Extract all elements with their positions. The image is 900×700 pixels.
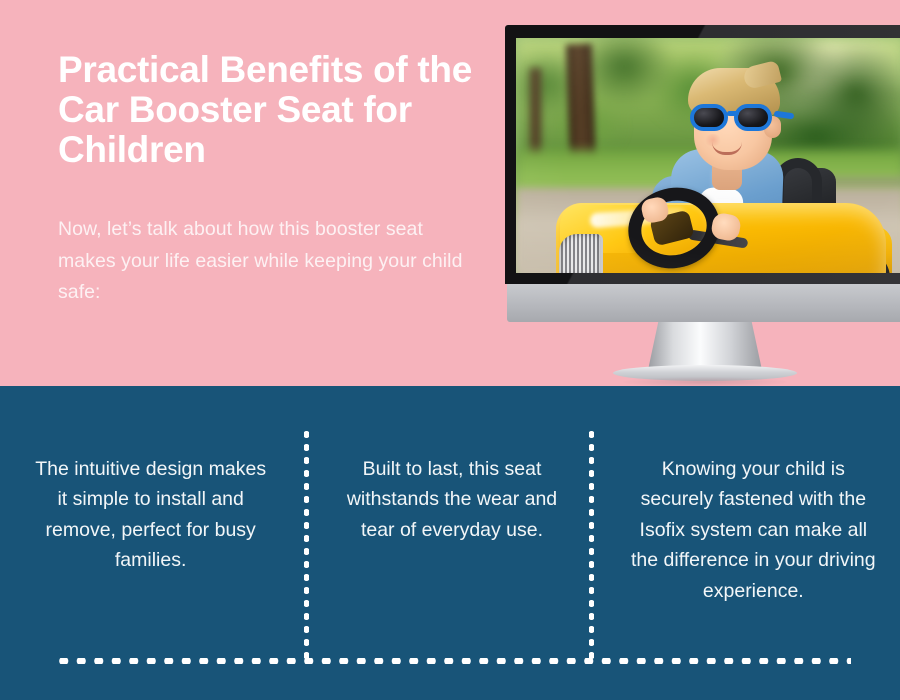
horizontal-dotted-divider bbox=[55, 658, 851, 664]
page-title: Practical Benefits of the Car Booster Se… bbox=[58, 50, 478, 170]
top-hero-section: Practical Benefits of the Car Booster Se… bbox=[0, 0, 900, 386]
sunglasses-left-lens bbox=[690, 104, 728, 131]
page-subtitle: Now, let’s talk about how this booster s… bbox=[58, 214, 470, 309]
vertical-dotted-divider-2 bbox=[589, 428, 594, 660]
monitor-stand-neck bbox=[648, 322, 762, 370]
monitor-illustration bbox=[505, 25, 900, 325]
benefit-column-2: Built to last, this seat withstands the … bbox=[299, 386, 604, 636]
monitor-chin bbox=[507, 284, 900, 322]
monitor-screen bbox=[516, 38, 900, 273]
screen-photo-child-in-toy-car bbox=[516, 38, 900, 273]
benefit-column-1: The intuitive design makes it simple to … bbox=[0, 386, 299, 636]
sunglasses-bridge bbox=[727, 111, 739, 116]
infographic-canvas: Practical Benefits of the Car Booster Se… bbox=[0, 0, 900, 700]
sunglasses-icon bbox=[690, 104, 782, 131]
benefit-column-3: Knowing your child is securely fastened … bbox=[605, 386, 900, 636]
toy-car-chrome-grille bbox=[559, 234, 603, 273]
vertical-dotted-divider-1 bbox=[304, 428, 309, 660]
benefits-section: The intuitive design makes it simple to … bbox=[0, 386, 900, 700]
sunglasses-right-lens bbox=[734, 104, 772, 131]
benefits-columns: The intuitive design makes it simple to … bbox=[0, 386, 900, 636]
